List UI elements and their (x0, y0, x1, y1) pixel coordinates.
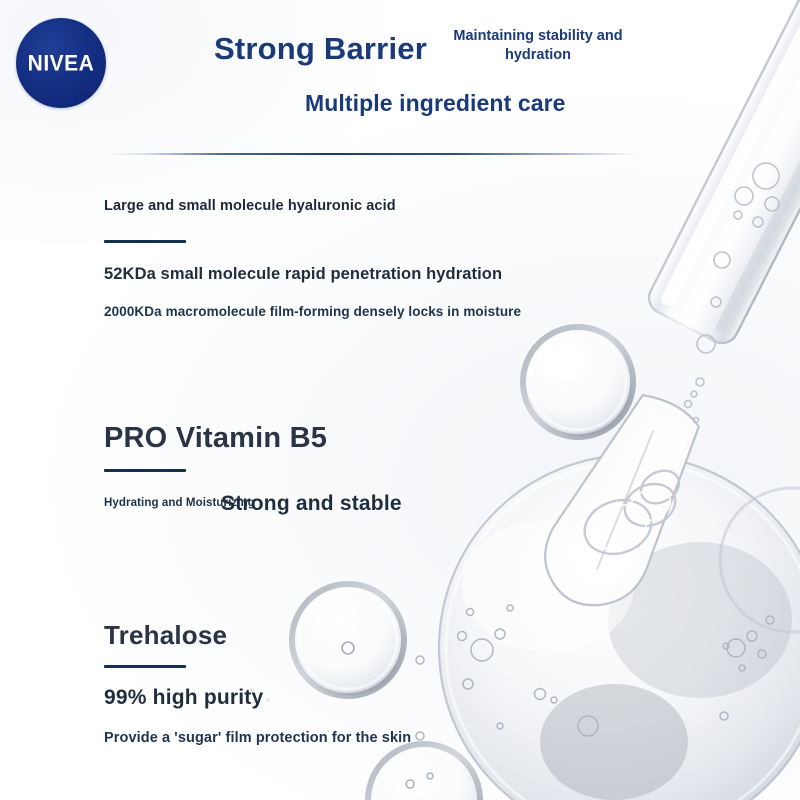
section-pro-vitamin-b5: PRO Vitamin B5 Hydrating and Moisturizin… (104, 422, 327, 520)
page-title: Strong Barrier (214, 31, 427, 67)
header-side-note: Maintaining stability and hydration (452, 27, 624, 65)
section-trehalose: Trehalose 99% high purity Provide a 'sug… (104, 620, 411, 746)
section-rule (104, 665, 186, 668)
droplet-bottom (368, 744, 480, 800)
header-divider (105, 153, 637, 155)
nivea-logo: NIVEA (16, 18, 106, 108)
section-title: Trehalose (104, 620, 411, 651)
infographic-canvas: NIVEA Strong Barrier Maintaining stabili… (0, 0, 800, 800)
section-title: PRO Vitamin B5 (104, 422, 327, 455)
page-subtitle: Multiple ingredient care (305, 90, 566, 117)
section-claim-primary: 52KDa small molecule rapid penetration h… (104, 265, 521, 284)
section-claim-secondary: 2000KDa macromolecule film-forming dense… (104, 304, 521, 319)
section-title: Large and small molecule hyaluronic acid (104, 198, 521, 214)
section-hyaluronic-acid: Large and small molecule hyaluronic acid… (104, 198, 521, 319)
section-rule (104, 240, 186, 243)
section-claim-primary: 99% high purity (104, 686, 411, 710)
section-rule (104, 469, 186, 472)
section-claim-primary: Strong and stable (221, 492, 402, 516)
section-claim-secondary: Provide a 'sugar' film protection for th… (104, 730, 411, 746)
logo-wordmark: NIVEA (28, 52, 95, 74)
droplet-mid-right (523, 327, 633, 437)
